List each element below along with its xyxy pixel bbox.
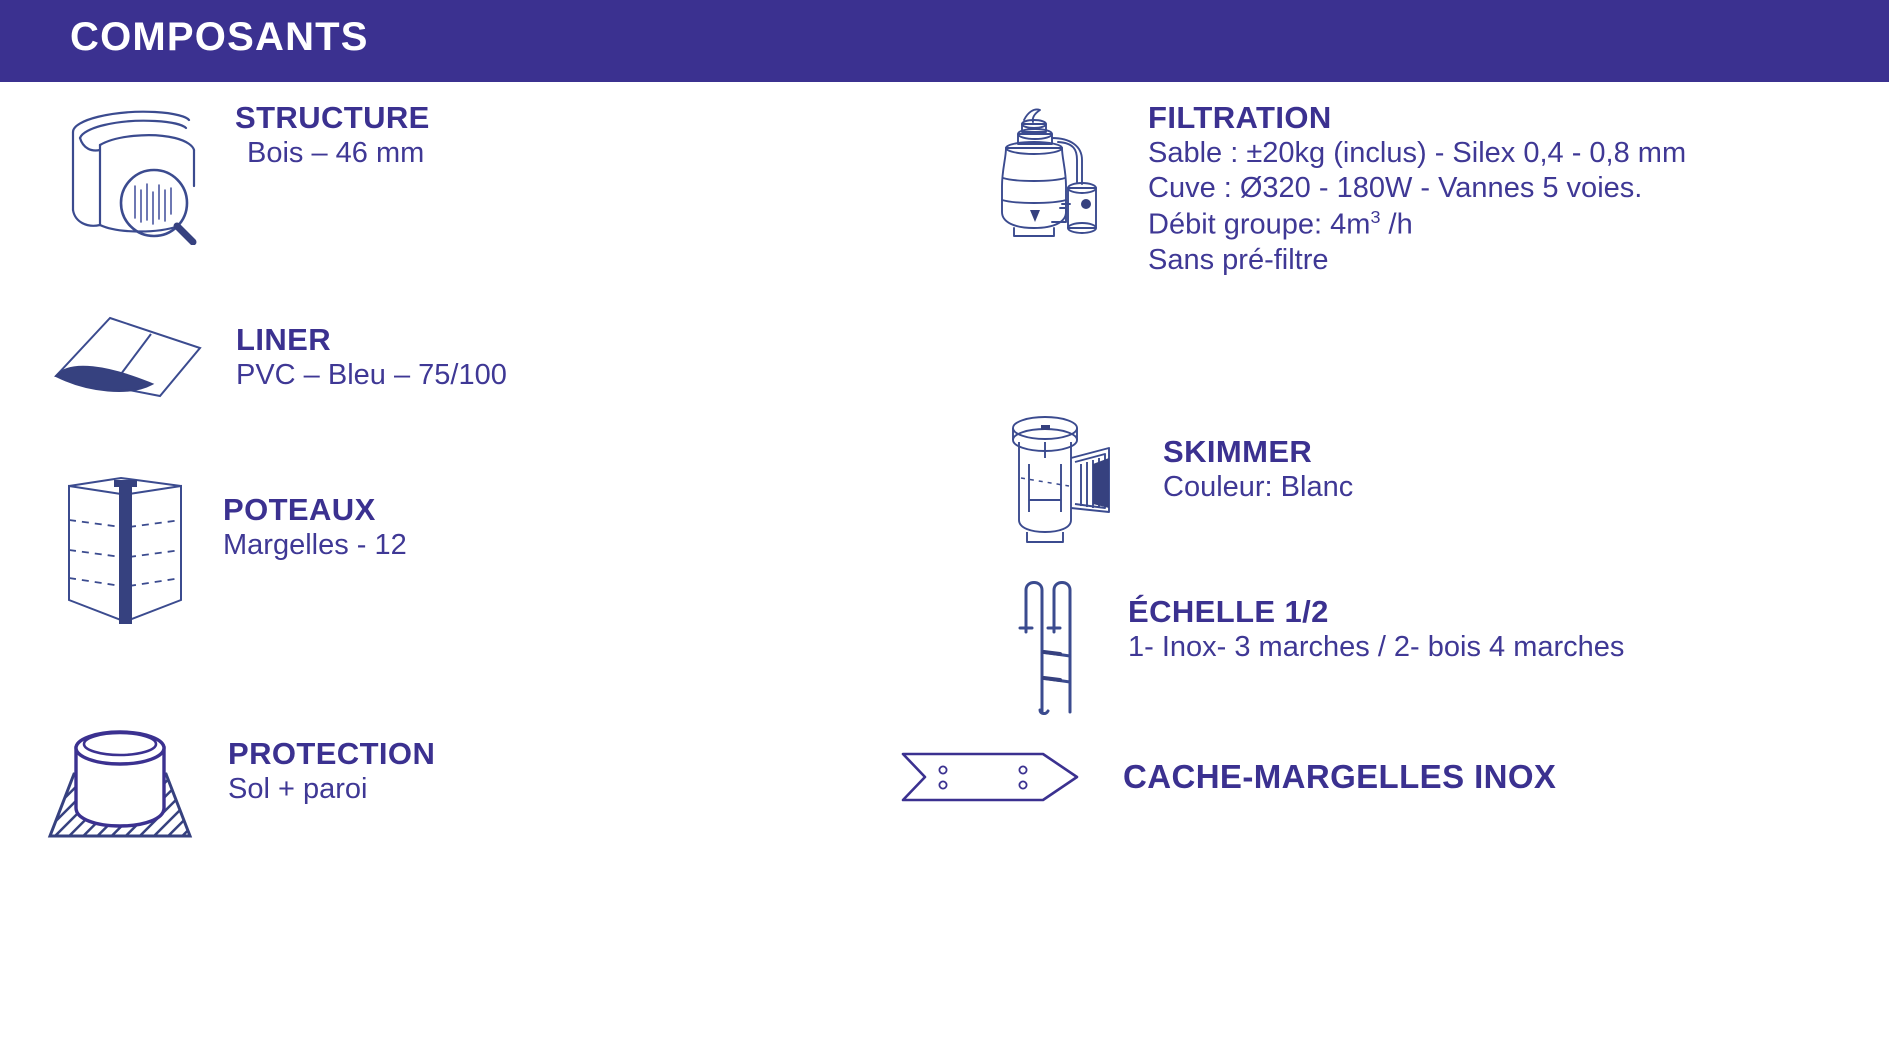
component-item-echelle: ÉCHELLE 1/2 1- Inox- 3 marches / 2- bois… — [1010, 572, 1624, 717]
sand-filter-pump-icon — [1000, 100, 1120, 240]
item-title-skimmer: SKIMMER — [1163, 434, 1353, 470]
skimmer-icon — [1005, 412, 1135, 547]
component-text-filtration: FILTRATION Sable : ±20kg (inclus) - Sile… — [1148, 100, 1686, 278]
item-desc-poteaux: Margelles - 12 — [223, 528, 407, 563]
component-item-protection: PROTECTION Sol + paroi — [40, 722, 435, 852]
item-desc-line: Bois – 46 mm — [235, 136, 430, 171]
component-item-skimmer: SKIMMER Couleur: Blanc — [1005, 412, 1353, 547]
component-text-echelle: ÉCHELLE 1/2 1- Inox- 3 marches / 2- bois… — [1128, 572, 1624, 665]
ladder-icon — [1010, 572, 1100, 717]
flow-unit: /h — [1380, 208, 1412, 240]
component-item-liner: LINER PVC – Bleu – 75/100 — [48, 304, 507, 414]
item-desc-line: Sable : ±20kg (inclus) - Silex 0,4 - 0,8… — [1148, 136, 1686, 171]
coping-cover-plate-icon — [895, 742, 1095, 812]
item-title-protection: PROTECTION — [228, 736, 435, 772]
item-title-poteaux: POTEAUX — [223, 492, 407, 528]
posts-corner-icon — [55, 472, 195, 632]
page-title: COMPOSANTS — [70, 15, 369, 60]
component-text-structure: STRUCTURE Bois – 46 mm — [235, 100, 430, 171]
component-text-cache-margelles: CACHE-MARGELLES INOX — [1123, 758, 1556, 796]
component-text-protection: PROTECTION Sol + paroi — [228, 722, 435, 807]
component-item-poteaux: POTEAUX Margelles - 12 — [55, 472, 407, 632]
item-desc-line: Sol + paroi — [228, 772, 435, 807]
item-desc-structure: Bois – 46 mm — [235, 136, 430, 171]
flow-prefix: Débit groupe: — [1148, 208, 1330, 240]
liner-sheet-icon — [48, 304, 208, 414]
component-item-structure: STRUCTURE Bois – 46 mm — [55, 100, 430, 245]
flow-value: 4m — [1330, 208, 1370, 240]
item-title-structure: STRUCTURE — [235, 100, 430, 136]
item-desc-echelle: 1- Inox- 3 marches / 2- bois 4 marches — [1128, 630, 1624, 665]
item-title-filtration: FILTRATION — [1148, 100, 1686, 136]
component-text-liner: LINER PVC – Bleu – 75/100 — [236, 304, 507, 393]
item-desc-line: Couleur: Blanc — [1163, 470, 1353, 505]
component-item-filtration: FILTRATION Sable : ±20kg (inclus) - Sile… — [1000, 100, 1686, 278]
component-text-poteaux: POTEAUX Margelles - 12 — [223, 472, 407, 563]
item-title-echelle: ÉCHELLE 1/2 — [1128, 594, 1624, 630]
item-desc-liner: PVC – Bleu – 75/100 — [236, 358, 507, 393]
item-title-liner: LINER — [236, 322, 507, 358]
item-desc-line: 1- Inox- 3 marches / 2- bois 4 marches — [1128, 630, 1624, 665]
item-title-cache-margelles: CACHE-MARGELLES INOX — [1123, 758, 1556, 796]
item-desc-filtration: Sable : ±20kg (inclus) - Silex 0,4 - 0,8… — [1148, 136, 1686, 278]
item-desc-line: PVC – Bleu – 75/100 — [236, 358, 507, 393]
item-desc-skimmer: Couleur: Blanc — [1163, 470, 1353, 505]
item-desc-line-flow: Débit groupe: 4m3 /h — [1148, 207, 1686, 243]
item-desc-line: Margelles - 12 — [223, 528, 407, 563]
item-desc-protection: Sol + paroi — [228, 772, 435, 807]
flow-exponent: 3 — [1370, 207, 1380, 227]
component-item-cache-margelles: CACHE-MARGELLES INOX — [895, 742, 1556, 812]
component-text-skimmer: SKIMMER Couleur: Blanc — [1163, 412, 1353, 505]
item-desc-line: Sans pré-filtre — [1148, 243, 1686, 278]
ground-wall-protection-icon — [40, 722, 200, 852]
item-desc-line: Cuve : Ø320 - 180W - Vannes 5 voies. — [1148, 171, 1686, 206]
wood-wall-magnifier-icon — [55, 100, 205, 245]
